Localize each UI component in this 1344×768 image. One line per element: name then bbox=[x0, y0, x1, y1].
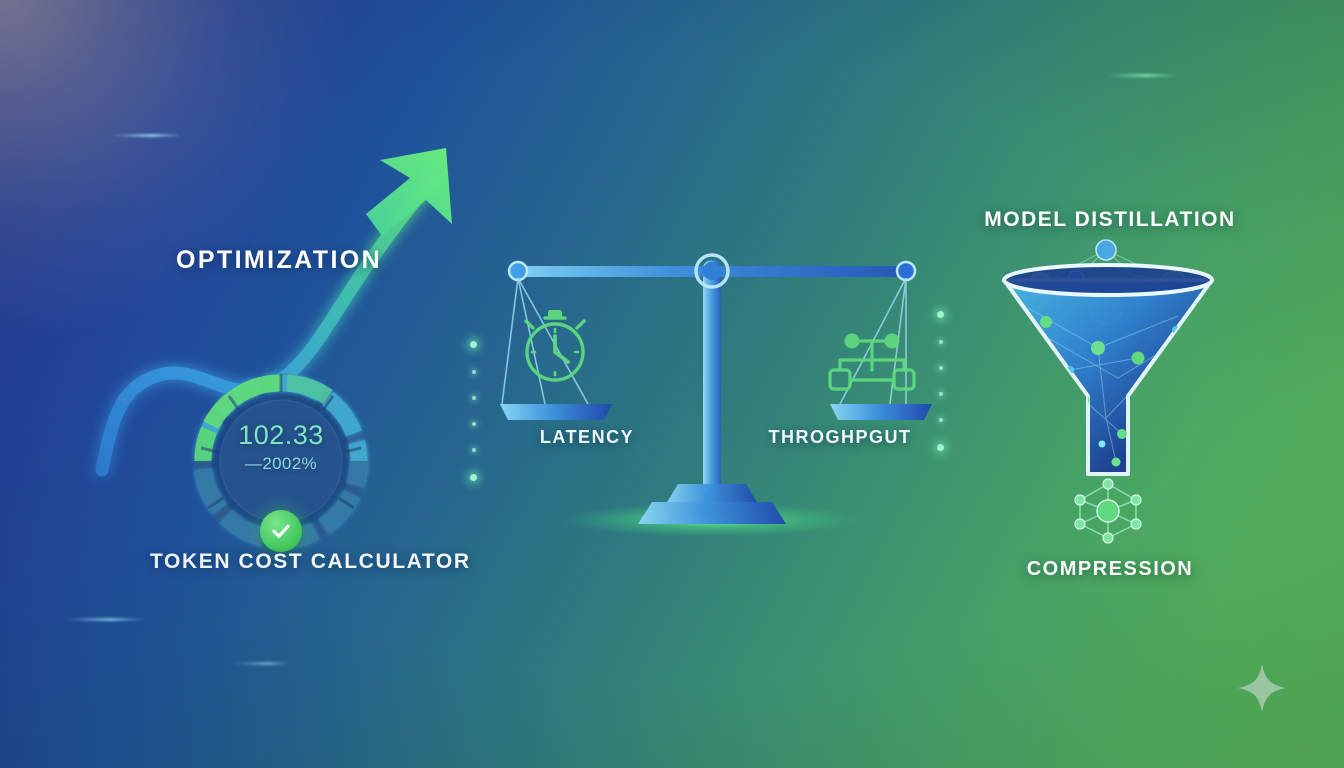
dot-divider-icon bbox=[937, 300, 944, 462]
light-streak-icon bbox=[232, 662, 288, 665]
flow-diagram-icon bbox=[830, 334, 914, 390]
sparkle-icon bbox=[1236, 662, 1288, 714]
scale-label-latency: LATENCY bbox=[497, 427, 677, 448]
light-streak-icon bbox=[1104, 74, 1176, 77]
gauge-value: 102.33 bbox=[188, 420, 374, 451]
section-label-compression: COMPRESSION bbox=[985, 558, 1235, 581]
section-label-distillation: MODEL DISTILLATION bbox=[960, 208, 1260, 232]
balance-scale-icon bbox=[492, 236, 932, 536]
compressed-network-icon bbox=[1062, 476, 1154, 546]
gauge-caption: TOKEN COST CALCULATOR bbox=[150, 550, 412, 574]
page-title: OPTIMIZATION bbox=[176, 246, 382, 275]
check-icon bbox=[260, 510, 302, 552]
stopwatch-icon bbox=[526, 310, 584, 380]
infographic-canvas: OPTIMIZATION bbox=[0, 0, 1344, 768]
dot-divider-icon bbox=[470, 330, 477, 492]
token-cost-gauge: 102.33 —2002% bbox=[188, 368, 374, 554]
gauge-delta: —2002% bbox=[188, 454, 374, 474]
scale-label-throughput: THROGHPGUT bbox=[750, 427, 930, 448]
funnel-icon bbox=[988, 238, 1228, 488]
light-streak-icon bbox=[60, 618, 144, 621]
